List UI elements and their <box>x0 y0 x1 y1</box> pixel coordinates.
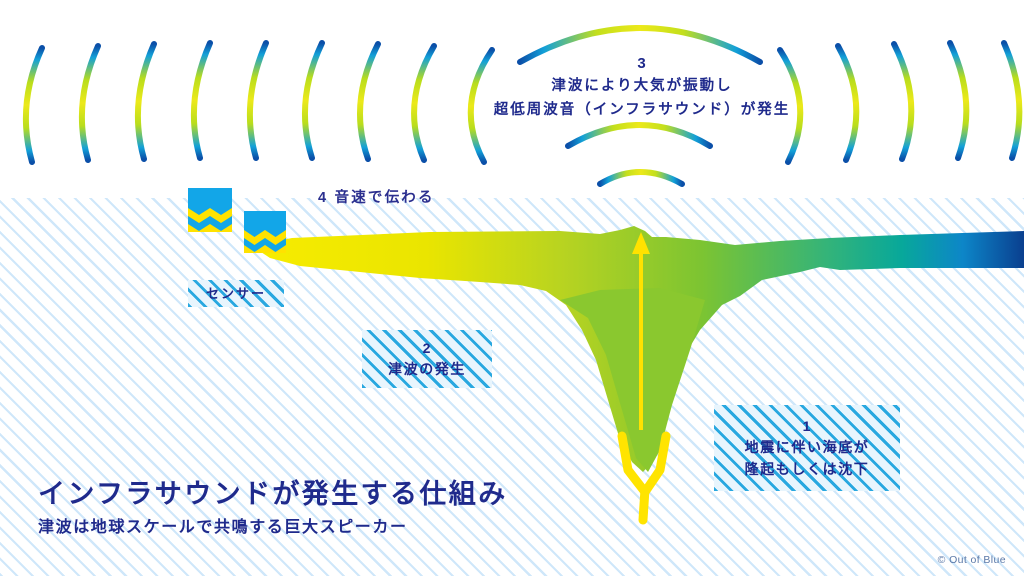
callout-step-3: 3 津波により大気が振動し 超低周波音（インフラサウンド）が発生 <box>462 54 822 122</box>
sensor-icon-1 <box>188 188 232 232</box>
step-1-line-2: 隆起もしくは沈下 <box>745 458 870 480</box>
callout-step-1: 1 地震に伴い海底が 隆起もしくは沈下 <box>714 405 900 491</box>
page-subtitle: 津波は地球スケールで共鳴する巨大スピーカー <box>38 513 408 537</box>
step-1-number: 1 <box>803 417 812 436</box>
step-3-number: 3 <box>462 54 822 74</box>
callout-step-4: 4 音速で伝わる <box>318 186 435 207</box>
step-1-line-1: 地震に伴い海底が <box>745 436 870 458</box>
step-3-line-2: 超低周波音（インフラサウンド）が発生 <box>462 98 822 122</box>
infographic-canvas: 3 津波により大気が振動し 超低周波音（インフラサウンド）が発生 4 音速で伝わ… <box>0 0 1024 576</box>
step-2-number: 2 <box>423 339 432 358</box>
copyright-credit: © Out of Blue <box>938 554 1006 566</box>
step-2-line-1: 津波の発生 <box>388 358 466 380</box>
sensor-icon-2 <box>244 211 286 253</box>
callout-sensor-label: センサー <box>188 280 284 307</box>
step-3-line-1: 津波により大気が振動し <box>462 74 822 98</box>
callout-step-2: 2 津波の発生 <box>362 330 492 388</box>
sensor-label-text: センサー <box>206 283 266 305</box>
page-title: インフラサウンドが発生する仕組み <box>38 472 508 511</box>
